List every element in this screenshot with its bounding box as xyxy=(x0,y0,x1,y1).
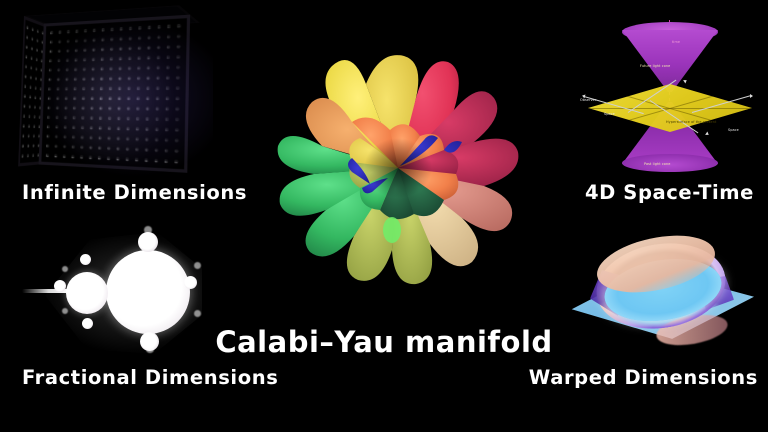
caption-infinite-dimensions: Infinite Dimensions xyxy=(22,181,247,204)
calabi-yau-manifold-figure xyxy=(248,18,536,314)
mandelbrot-filament xyxy=(62,308,68,314)
time-axis-label: time xyxy=(672,40,680,44)
mandelbrot-bulb xyxy=(184,276,197,289)
caption-warped-dimensions: Warped Dimensions xyxy=(529,366,758,389)
mandelbrot-bulb xyxy=(80,254,91,265)
observer-label: Observer xyxy=(580,98,596,102)
cy-center-shading xyxy=(364,138,432,198)
collage-canvas: Infinite Dimensions Fractional Dimension… xyxy=(0,0,768,432)
led-cube-body xyxy=(57,23,200,171)
space-axis-arrowhead-right xyxy=(750,94,753,98)
led-cube-face-front xyxy=(39,15,191,173)
led-infinity-cube-figure xyxy=(28,18,218,176)
mandelbrot-filament xyxy=(62,266,68,272)
mandelbrot-bulb xyxy=(54,280,66,292)
past-cone-label: Past light cone xyxy=(644,162,670,166)
light-cone-diagram-figure: time Future light cone Past light cone H… xyxy=(578,16,760,178)
mandelbrot-bulb xyxy=(138,232,158,252)
cy-highlight-green xyxy=(383,217,401,243)
caption-4d-space-time: 4D Space-Time xyxy=(585,181,754,204)
present-hypersurface-label: Hypersurface of the present xyxy=(666,120,716,124)
calabi-yau-svg xyxy=(248,18,536,314)
space-axis-arrowhead-back xyxy=(683,79,688,84)
space-axis-arrowhead-front xyxy=(705,132,710,137)
panel-infinite-dimensions xyxy=(28,18,218,176)
mandelbrot-period2-bulb xyxy=(66,272,108,314)
space-axis-label-right: Space xyxy=(728,128,739,132)
mandelbrot-filament xyxy=(194,310,201,317)
mandelbrot-cardioid xyxy=(106,250,190,334)
page-title: Calabi–Yau manifold xyxy=(0,325,768,359)
mandelbrot-filament xyxy=(144,226,152,234)
present-hypersurface-gridlines xyxy=(588,84,752,132)
panel-4d-space-time: time Future light cone Past light cone H… xyxy=(578,16,760,178)
led-inner-reflection xyxy=(47,25,180,162)
space-axis-label-left: Space xyxy=(604,112,615,116)
caption-fractional-dimensions: Fractional Dimensions xyxy=(22,366,278,389)
future-cone-label: Future light cone xyxy=(640,64,670,68)
mandelbrot-filament xyxy=(194,262,201,269)
